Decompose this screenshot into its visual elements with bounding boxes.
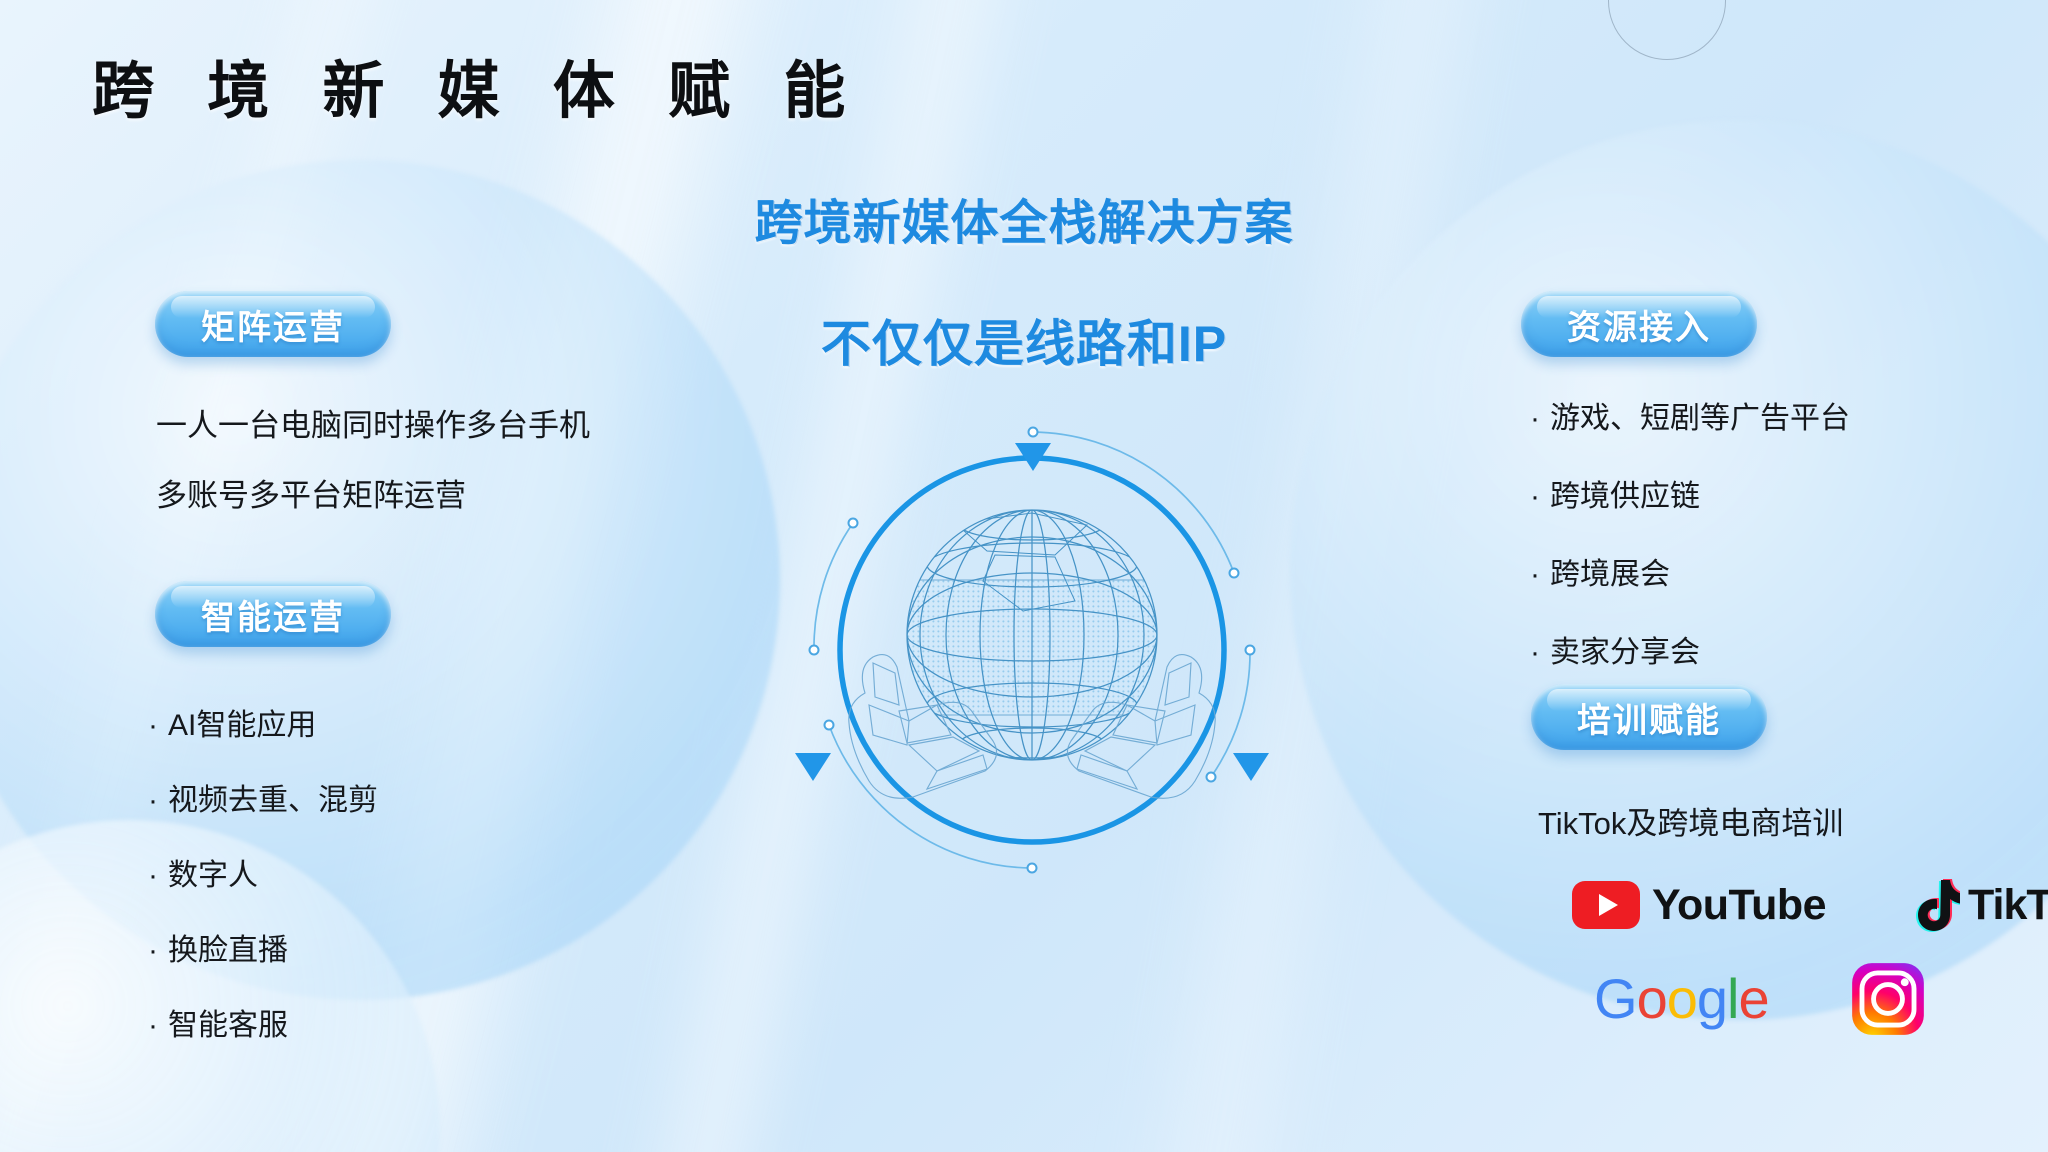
instagram-logo[interactable] bbox=[1851, 962, 1925, 1036]
bullet-icon: · bbox=[148, 709, 168, 743]
bullet-icon: · bbox=[148, 859, 168, 893]
list-item: · 智能客服 bbox=[148, 1000, 378, 1044]
list-item-label: 跨境供应链 bbox=[1550, 471, 1700, 515]
google-letter: g bbox=[1697, 967, 1727, 1030]
left-bullet-list: · AI智能应用 · 视频去重、混剪 · 数字人 · 换脸直播 · 智能客服 bbox=[148, 700, 378, 1075]
logo-row-primary: YouTube TikTok bbox=[1572, 878, 2048, 932]
list-item-label: 游戏、短剧等广告平台 bbox=[1550, 393, 1850, 437]
bullet-icon: · bbox=[1530, 558, 1550, 592]
youtube-play-icon bbox=[1572, 881, 1640, 929]
tiktok-logo[interactable]: TikTok bbox=[1912, 878, 2048, 932]
page-title: 跨 境 新 媒 体 赋 能 bbox=[92, 40, 863, 130]
google-letter: o bbox=[1667, 967, 1697, 1030]
list-item: · 数字人 bbox=[148, 850, 378, 894]
globe-in-hands-illustration bbox=[787, 405, 1277, 895]
list-item-label: 视频去重、混剪 bbox=[168, 775, 378, 819]
right-bullet-list: · 游戏、短剧等广告平台 · 跨境供应链 · 跨境展会 · 卖家分享会 bbox=[1530, 393, 1850, 671]
left-text-line-1: 一人一台电脑同时操作多台手机 bbox=[156, 400, 590, 445]
pill-label: 培训赋能 bbox=[1577, 693, 1721, 742]
bullet-icon: · bbox=[1530, 636, 1550, 670]
list-item-label: 换脸直播 bbox=[168, 925, 288, 969]
bullet-icon: · bbox=[148, 1009, 168, 1043]
list-item-label: AI智能应用 bbox=[168, 700, 316, 744]
list-item-label: 跨境展会 bbox=[1550, 549, 1670, 593]
google-letter: e bbox=[1738, 967, 1768, 1030]
pill-resource-access[interactable]: 资源接入 bbox=[1521, 291, 1757, 357]
bullet-icon: · bbox=[1530, 480, 1550, 514]
google-letter: G bbox=[1594, 967, 1637, 1030]
list-item: · 换脸直播 bbox=[148, 925, 378, 969]
pill-matrix-operations[interactable]: 矩阵运营 bbox=[155, 291, 391, 357]
list-item-label: 数字人 bbox=[168, 850, 258, 894]
bullet-icon: · bbox=[1530, 402, 1550, 436]
bullet-icon: · bbox=[148, 934, 168, 968]
list-item-label: 智能客服 bbox=[168, 1000, 288, 1044]
list-item: · 游戏、短剧等广告平台 bbox=[1530, 393, 1850, 437]
list-item: · 卖家分享会 bbox=[1530, 627, 1850, 671]
youtube-wordmark: YouTube bbox=[1652, 881, 1826, 930]
right-training-text: TikTok及跨境电商培训 bbox=[1538, 798, 1843, 843]
list-item: · 跨境展会 bbox=[1530, 549, 1850, 593]
tiktok-wordmark: TikTok bbox=[1968, 881, 2048, 930]
list-item: · 跨境供应链 bbox=[1530, 471, 1850, 515]
center-headline-primary: 跨境新媒体全栈解决方案 bbox=[754, 183, 1293, 253]
list-item: · 视频去重、混剪 bbox=[148, 775, 378, 819]
youtube-logo[interactable]: YouTube bbox=[1572, 881, 1826, 930]
google-letter: l bbox=[1727, 967, 1738, 1030]
google-letter: o bbox=[1637, 967, 1667, 1030]
left-text-line-2: 多账号多平台矩阵运营 bbox=[156, 470, 466, 515]
google-logo[interactable]: Google bbox=[1594, 971, 1769, 1027]
list-item: · AI智能应用 bbox=[148, 700, 378, 744]
slide-root: 跨 境 新 媒 体 赋 能 跨境新媒体全栈解决方案 不仅仅是线路和IP bbox=[0, 0, 2048, 1152]
center-headline-secondary: 不仅仅是线路和IP bbox=[821, 304, 1227, 376]
logo-row-secondary: Google bbox=[1594, 962, 1925, 1036]
pill-label: 资源接入 bbox=[1567, 300, 1711, 349]
tiktok-note-icon bbox=[1912, 878, 1960, 932]
pill-smart-operations[interactable]: 智能运营 bbox=[155, 581, 391, 647]
bullet-icon: · bbox=[148, 784, 168, 818]
pill-label: 矩阵运营 bbox=[201, 300, 345, 349]
pill-label: 智能运营 bbox=[201, 590, 345, 639]
list-item-label: 卖家分享会 bbox=[1550, 627, 1700, 671]
pill-training-empowerment[interactable]: 培训赋能 bbox=[1531, 684, 1767, 750]
outline-circle-decoration bbox=[1608, 0, 1726, 60]
background-circle-left bbox=[0, 160, 780, 1000]
